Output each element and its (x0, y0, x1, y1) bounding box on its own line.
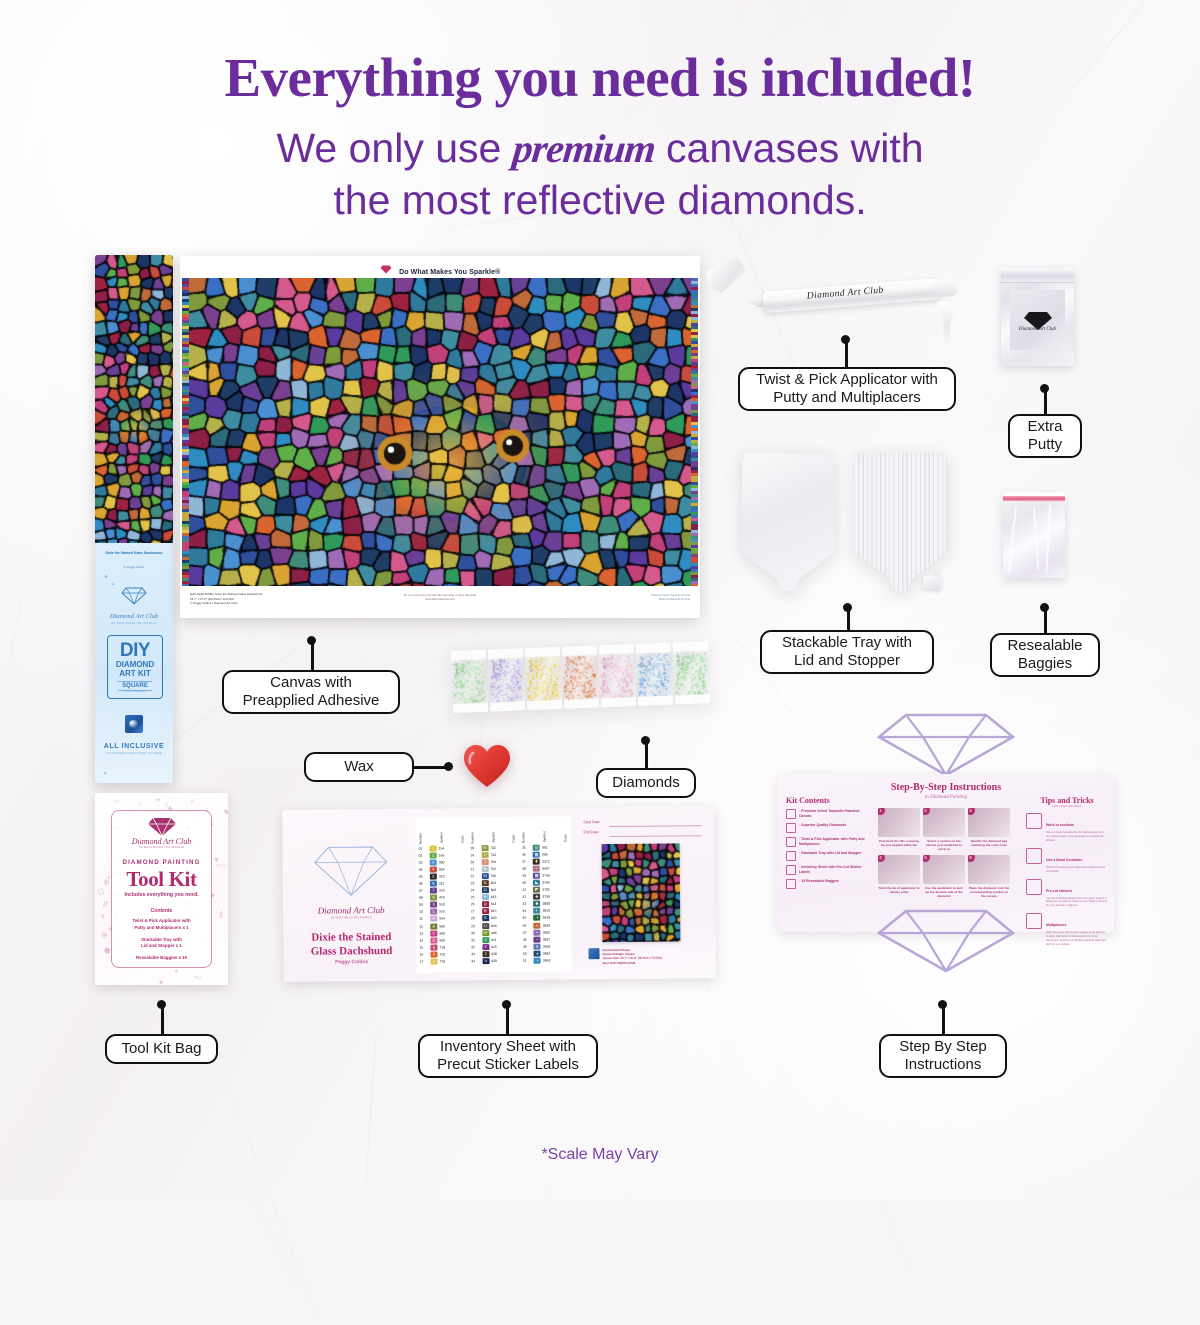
callout-diamonds[interactable]: Diamonds (596, 768, 696, 798)
diamond-packets-strip: 50.5x.25 50.5x.25 50.5x.25 50.5x.25 50.5… (451, 635, 716, 719)
diamond-packet: 50.5x.25 (599, 644, 636, 707)
callout-inventory-sheet[interactable]: Inventory Sheet with Precut Sticker Labe… (418, 1034, 598, 1078)
inventory-artist: Peggy Collins (292, 959, 412, 966)
tip-heading: Pre-cut stickers (1046, 889, 1072, 893)
step-number: 2 (923, 808, 930, 815)
instruction-step: 2 Select a symbol on the canvas you woul… (923, 808, 965, 852)
subtitle-part-2: canvases with (666, 125, 924, 171)
diamond-packet: 50.5x.25 (488, 648, 525, 711)
inventory-symbol-chip: 8 (430, 895, 437, 901)
package-artwork-title: Dixie the Stained Glass Dachshund (99, 551, 169, 556)
baggie-crease (1008, 506, 1017, 572)
sparkle-icon: ✦ (111, 582, 115, 588)
kit-contents-item: · Stackable Tray with Lid and Stopper (786, 851, 870, 861)
diamond-packet: 50.5x.25 (636, 643, 673, 706)
canvas-sku-line: DAC-SQR-DIXIE | Dixie the Stained Glass … (190, 592, 262, 597)
diamond-packet: 50.5x.25 (451, 650, 488, 713)
tip-body: Use the individual stickers from the pap… (1046, 897, 1108, 909)
inventory-symbol-chip: D (430, 937, 437, 943)
multiplacer-tip-large (930, 302, 964, 342)
inventory-symbol-chip: ◑ (534, 915, 541, 921)
inventory-symbol-chip: 9 (430, 902, 437, 908)
kit-contents-item: · Twist & Pick Applicator with Putty and… (786, 837, 870, 847)
leader-dot-inventory (502, 1000, 511, 1009)
inventory-symbol-chip: C (430, 930, 437, 936)
inventory-symbol-chip: A (430, 916, 437, 922)
putty-bag-brand: Diamond Art Club (1010, 327, 1065, 332)
step-text: Place the diamond onto the corresponding… (968, 886, 1010, 899)
step-text: Select a symbol on the canvas you would … (923, 839, 965, 852)
tips-subtitle: FOR YOUR PROJECT (1026, 805, 1108, 808)
inventory-symbol-chip: ◓ (534, 929, 541, 935)
instructions-diamond-bottom (876, 908, 1016, 979)
all-inclusive-sub: KIT INCLUDES EVERYTHING YOU NEED (95, 752, 173, 755)
kit-contents-icon (786, 865, 796, 875)
callout-instructions-line-2: Instructions (905, 1056, 982, 1073)
leader-dot-baggies (1040, 603, 1049, 612)
tip-body: Use our clear bearable film for visible … (1046, 831, 1108, 843)
start-date-label: Start Date (583, 820, 599, 824)
callout-canvas-line-2: Preapplied Adhesive (243, 692, 380, 709)
tip-heading: Multiplacers (1046, 923, 1066, 927)
inventory-row: 34 ⊃ 939 (469, 957, 519, 965)
stackable-tray-body (855, 443, 947, 591)
baggie-crease (1046, 505, 1051, 571)
inventory-symbol-chip: ✓ (533, 865, 540, 871)
callout-tray[interactable]: Stackable Tray with Lid and Stopper (760, 630, 934, 674)
diamond-packet: 50.5x.25 (673, 641, 710, 704)
callout-tray-line-2: Lid and Stopper (794, 652, 900, 669)
tool-kit-eyebrow: DIAMOND PAINTING (112, 859, 211, 866)
inventory-symbol-chip: 1 (430, 845, 437, 851)
inventory-title-line-2: Glass Dachshund (311, 945, 393, 958)
putty-bag-contents: Diamond Art Club (1010, 290, 1065, 350)
tip-icon (1026, 913, 1042, 929)
callout-putty-text: Extra Putty (1027, 418, 1062, 455)
callout-tray-line-1: Stackable Tray with (782, 634, 912, 651)
start-date-line[interactable] (609, 825, 701, 827)
inventory-symbol-chip: H (481, 845, 488, 851)
callout-inventory-text: Inventory Sheet with Precut Sticker Labe… (437, 1038, 579, 1075)
callout-tool-kit-bag[interactable]: Tool Kit Bag (105, 1034, 218, 1064)
package-lower-panel: Dixie the Stained Glass Dachshund by Peg… (95, 543, 173, 783)
sparkle-icon: ✦ (103, 573, 109, 581)
leader-dot-applicator (841, 335, 850, 344)
diy-label: DIY (108, 641, 162, 660)
inventory-symbol-chip: ◈ (533, 894, 540, 900)
subtitle-premium-script: premium (510, 125, 657, 172)
inventory-symbol-chip: J (481, 859, 488, 865)
inventory-symbol-chip: W (482, 930, 489, 936)
inventory-symbol-chip: S (482, 916, 489, 922)
tool-kit-contents-item: Resealable Baggies x 15 (120, 955, 203, 962)
tool-kit-brand: Diamond Art Club (112, 837, 211, 846)
callout-canvas-text: Canvas with Preapplied Adhesive (243, 674, 380, 711)
inventory-symbol-chip: ◖ (534, 958, 541, 964)
kit-contents-icon (786, 809, 796, 819)
all-inclusive-label: ALL INCLUSIVE (95, 743, 173, 750)
tips-title: Tips and Tricks (1026, 796, 1108, 805)
callout-instructions[interactable]: Step By Step Instructions (879, 1034, 1007, 1078)
inventory-symbol-chip: N (482, 880, 489, 886)
tips-and-tricks-block: Tips and Tricks FOR YOUR PROJECT Work in… (1026, 796, 1108, 952)
tool-kit-panel: Diamond Art Club DO WHAT MAKES YOU SPARK… (111, 810, 212, 968)
callout-extra-putty[interactable]: Extra Putty (1008, 414, 1082, 458)
step-text: Twist the tip of applicator to release p… (878, 886, 920, 894)
leader-dot-putty (1040, 384, 1049, 393)
instruction-step: 4 Twist the tip of applicator to release… (878, 855, 920, 899)
diamond-packet: 50.5x.25 (525, 647, 562, 710)
instructions-title: Step-By-Step Instructions (778, 782, 1114, 793)
kit-contents-icon (786, 879, 796, 889)
product-package-box: Dixie the Stained Glass Dachshund by Peg… (95, 255, 173, 783)
tool-kit-contents-item: Twist & Pick Applicator withPutty and Mu… (120, 918, 203, 932)
callout-wax-text: Wax (344, 758, 373, 776)
inventory-title-line-1: Dixie the Stained (311, 931, 391, 944)
inventory-right-panel: Start Date End Date Diamond Drill Shape:… (577, 815, 706, 971)
inventory-symbol-chip: E (430, 944, 437, 950)
package-artwork (95, 255, 173, 543)
spec-line-4: SKU: DAC-SQRDX-DIXIE (603, 960, 662, 965)
inventory-artwork-title: Dixie the Stained Glass Dachshund (291, 931, 411, 960)
kit-contents-icon (786, 837, 796, 847)
package-diamond-icon (121, 587, 147, 610)
inventory-brand: Diamond Art Club (291, 905, 411, 916)
inventory-symbol-chip: 7 (430, 888, 437, 894)
instruction-step: 5 Use the applicator to pick up the face… (923, 855, 965, 899)
callout-canvas-line-1: Canvas with (270, 674, 352, 691)
stackable-tray-lid (742, 443, 834, 591)
inventory-symbol-chip: M (481, 873, 488, 879)
kit-contents-icon (786, 851, 796, 861)
callout-canvas[interactable]: Canvas with Preapplied Adhesive (222, 670, 400, 714)
kit-contents-item: · Premium Velvet Tarpaulin Patented Canv… (786, 809, 870, 819)
diy-line-2: DIAMOND (116, 660, 154, 669)
inventory-row: 51 ◖ 3843 (521, 957, 571, 965)
inventory-symbol-chip: ▩ (533, 873, 540, 879)
tip-body: Perfect for keeping your diamonds organi… (1046, 866, 1108, 874)
applicator-end-cap (934, 279, 957, 298)
inventory-symbol-chip: ◣ (533, 880, 540, 886)
callout-putty-line-2: Putty (1028, 436, 1062, 453)
inventory-column-header: NumberSymbolCode (468, 817, 518, 844)
tool-kit-contents-item: Stackable Tray withLid and Stopper x 1 (120, 937, 203, 951)
inventory-symbol-chip: Z (482, 951, 489, 957)
callout-applicator-line-1: Twist & Pick Applicator with (756, 371, 938, 388)
scale-note: *Scale May Vary (0, 1146, 1200, 1164)
canvas-credit-line: © Peggy Collins / Diamond Art Club (190, 601, 262, 606)
canvas-diamond-icon (380, 261, 392, 279)
callout-applicator-line-2: Putty and Multiplacers (773, 389, 921, 406)
tool-kit-brand-tagline: DO WHAT MAKES YOU SPARKLE (112, 846, 211, 849)
callout-wax[interactable]: Wax (304, 752, 414, 782)
leader-dot-diamonds (641, 736, 650, 745)
callout-baggies-text: Resealable Baggies (1007, 637, 1082, 674)
inventory-symbol-chip: B (430, 923, 437, 929)
subtitle-part-1: We only use (276, 125, 501, 171)
inventory-symbol-chip: ◆ (533, 901, 540, 907)
inventory-column-header: NumberSymbolCode (416, 817, 466, 844)
canvas-website: www.diamondartclub.com (404, 598, 477, 602)
inventory-symbol-chip: 6 (430, 881, 437, 887)
leader-dot-toolkit (157, 1000, 166, 1009)
diamond-art-kit-label: DIAMOND ART KIT (108, 661, 162, 679)
tip-heading: Use a Bead Container (1046, 858, 1082, 862)
callout-putty-line-1: Extra (1027, 418, 1062, 435)
canvas-footer-right: Patented Velvet Tarpaulin Canvas Made fo… (651, 594, 690, 602)
inventory-column-header: NumberSymbolCode (520, 816, 570, 843)
diamond-painting-canvas: Do What Makes You Sparkle® Diamond Art C… (180, 256, 700, 618)
leader-dot-wax (444, 762, 453, 771)
subtitle-line-2: the most reflective diamonds. (0, 176, 1200, 224)
inventory-symbol-chip: V (431, 959, 438, 965)
callout-inventory-line-1: Inventory Sheet with (440, 1038, 576, 1055)
inventory-row: 17 V 726 (418, 958, 468, 966)
tip-icon (1026, 879, 1042, 895)
canvas-made-for-line: Made for Diamond Art Club (651, 598, 690, 602)
callout-instructions-text: Step By Step Instructions (899, 1038, 987, 1075)
inventory-symbol-chip: Y (482, 944, 489, 950)
instructions-diamond-top (876, 712, 1016, 783)
inventory-drill-icon (588, 948, 599, 959)
inventory-sheet: Diamond Art Club DO WHAT MAKES YOU SPARK… (282, 806, 715, 982)
wax-heart (463, 744, 511, 788)
diy-line-3: ART KIT (119, 669, 151, 678)
inventory-symbol-table: NumberSymbolCode 01 1 154 02 2 166 03 3 … (415, 816, 571, 972)
inventory-symbol-chip: ⊃ (482, 958, 489, 964)
callout-instructions-line-1: Step By Step (899, 1038, 987, 1055)
inventory-symbol-chip: O (482, 887, 489, 893)
inventory-symbol-chip: ◎ (533, 844, 540, 850)
tip-icon (1026, 813, 1042, 829)
diamond-packet: 50.5x.25 (562, 645, 599, 708)
step-number: 4 (878, 855, 885, 862)
canvas-color-legend-left (182, 278, 189, 586)
inventory-symbol-chip: F (430, 951, 437, 957)
tray-stopper (923, 576, 941, 589)
instruction-steps: 1 Peel back the film covering the pre-ap… (878, 808, 1014, 898)
inventory-symbol-chip: ◒ (534, 922, 541, 928)
callout-inventory-line-2: Precut Sticker Labels (437, 1056, 579, 1073)
inventory-symbol-chip: I (481, 852, 488, 858)
sparkle-icon: ✦ (103, 771, 107, 777)
callout-toolkit-text: Tool Kit Bag (121, 1040, 201, 1058)
tool-kit-title: Tool Kit (112, 867, 211, 892)
tip-item: Work in sections Use our clear bearable … (1026, 813, 1108, 843)
package-brand: Diamond Art Club (99, 613, 169, 620)
callout-tray-text: Stackable Tray with Lid and Stopper (782, 634, 912, 671)
instruction-step: 1 Peel back the film covering the pre-ap… (878, 808, 920, 852)
inventory-symbol-chip: ◔ (534, 936, 541, 942)
canvas-color-legend-right (691, 278, 698, 586)
putty-bag-zip (1001, 268, 1074, 283)
inventory-symbol-chip: ◤ (533, 887, 540, 893)
page-title: Everything you need is included! (0, 46, 1200, 109)
tool-kit-contents-heading: Contents (112, 908, 211, 914)
leader-dot-tray (843, 603, 852, 612)
package-artwork-artist: by Peggy Collins (99, 565, 169, 569)
tip-item: Use a Bead Container Perfect for keeping… (1026, 848, 1108, 874)
inventory-symbol-chip: 4 (430, 866, 437, 872)
leader-line-wax (412, 766, 446, 769)
step-number: 5 (923, 855, 930, 862)
inventory-symbol-chip: X (482, 937, 489, 943)
inventory-symbol-chip: P (482, 894, 489, 900)
kit-contents-icon (786, 823, 796, 833)
kit-contents-item: · 15 Resealable Baggies (786, 879, 870, 889)
tool-kit-tagline: Includes everything you need. (112, 892, 211, 898)
end-date-line[interactable] (609, 835, 701, 837)
inventory-symbol-chip: 5 (430, 873, 437, 879)
inventory-symbol-chip: ▦ (533, 851, 540, 857)
leader-dot-instructions (938, 1000, 947, 1009)
diy-kit-badge: DIY DIAMOND ART KIT SQUARE DRILL / FULL … (107, 635, 163, 699)
infographic-root: Everything you need is included! We only… (0, 0, 1200, 1200)
tool-kit-contents-list: Twist & Pick Applicator withPutty and Mu… (120, 918, 203, 967)
end-date-label: End Date (583, 830, 598, 834)
subtitle-line-1: We only use premium canvases with (0, 124, 1200, 172)
inventory-symbol-chip: R (482, 908, 489, 914)
inventory-left-panel: Diamond Art Club DO WHAT MAKES YOU SPARK… (290, 819, 411, 972)
kit-contents-item: · Superior Quality Diamonds (786, 823, 870, 833)
step-number: 6 (968, 855, 975, 862)
tip-body: Each kit comes with 6 and 7 plastic tip … (1046, 931, 1108, 947)
callout-baggies[interactable]: Resealable Baggies (990, 633, 1100, 677)
tip-item: Multiplacers Each kit comes with 6 and 7… (1026, 913, 1108, 947)
canvas-artwork-mosaic (189, 278, 691, 586)
inventory-symbol-chip: Q (482, 901, 489, 907)
leader-dot-canvas (307, 636, 316, 645)
tip-icon (1026, 848, 1042, 864)
baggie-zip-strip (1003, 496, 1065, 501)
canvas-footer-center: Do not remove the protective film until … (404, 594, 477, 602)
resealable-baggie (1003, 492, 1065, 578)
inventory-symbol-chip: 2 (430, 852, 437, 858)
step-text: Identify the diamond bag matching the co… (968, 839, 1010, 847)
kit-contents-item: · Inventory Sheet with Pre-Cut Sticker L… (786, 865, 870, 875)
callout-diamonds-text: Diamonds (612, 774, 680, 792)
callout-applicator-text: Twist & Pick Applicator with Putty and M… (756, 371, 938, 408)
inventory-brand-tagline: DO WHAT MAKES YOU SPARKLE (291, 916, 411, 920)
extra-putty-bag: Diamond Art Club (1001, 268, 1074, 366)
tool-kit-bag: ❋✎◆❋✧✎◇▱❋✦▱▱❋▱❋✧✦▱✎❤✎◆✧⬟◇✧⬟◇✦◆❤✦✧✦◆✦✦◆▱✎… (95, 793, 228, 985)
canvas-tagline: Do What Makes You Sparkle® (399, 269, 500, 276)
callout-baggies-line-1: Resealable (1007, 637, 1082, 654)
step-number: 1 (878, 808, 885, 815)
callout-baggies-line-2: Baggies (1018, 655, 1072, 672)
inventory-diamond-icon (313, 845, 389, 903)
step-text: Use the applicator to pick up the facete… (923, 886, 965, 899)
inventory-symbol-chip: ◐ (533, 908, 540, 914)
inventory-artwork-thumbnail (602, 843, 681, 942)
drill-type-sub: DRILL / FULL DRILL (108, 690, 162, 693)
step-number: 3 (968, 808, 975, 815)
step-text: Peel back the film covering the pre-appl… (878, 839, 920, 847)
callout-applicator[interactable]: Twist & Pick Applicator with Putty and M… (738, 367, 956, 411)
tip-heading: Work in sections (1046, 823, 1074, 827)
kit-contents-block: Kit Contents · Premium Velvet Tarpaulin … (786, 796, 870, 893)
step-by-step-instructions-sheet: Step-By-Step Instructions to Diamond Pai… (778, 712, 1114, 987)
canvas-footer-left: DAC-SQR-DIXIE | Dixie the Stained Glass … (190, 592, 262, 606)
package-brand-tagline: DO WHAT MAKES YOU SPARKLE (99, 622, 169, 625)
inventory-symbol-chip: ◕ (534, 951, 541, 957)
tip-item: Pre-cut stickers Use the individual stic… (1026, 879, 1108, 909)
inventory-symbol-chip: 3 (430, 859, 437, 865)
inventory-symbol-chip: K (481, 866, 488, 872)
instruction-step: 3 Identify the diamond bag matching the … (968, 808, 1010, 852)
instruction-step: 6 Place the diamond onto the correspondi… (968, 855, 1010, 899)
inventory-symbol-chip: L (430, 909, 437, 915)
inventory-specs: Diamond Drill Shape: Diamond Shape: Squa… (602, 948, 662, 965)
kit-contents-title: Kit Contents (786, 796, 870, 805)
inventory-symbol-chip: ✚ (533, 858, 540, 864)
inventory-symbol-chip: U (482, 923, 489, 929)
baggie-crease (1033, 508, 1039, 570)
inventory-symbol-chip: K (534, 943, 541, 949)
diamond-swatch-icon (125, 715, 143, 733)
